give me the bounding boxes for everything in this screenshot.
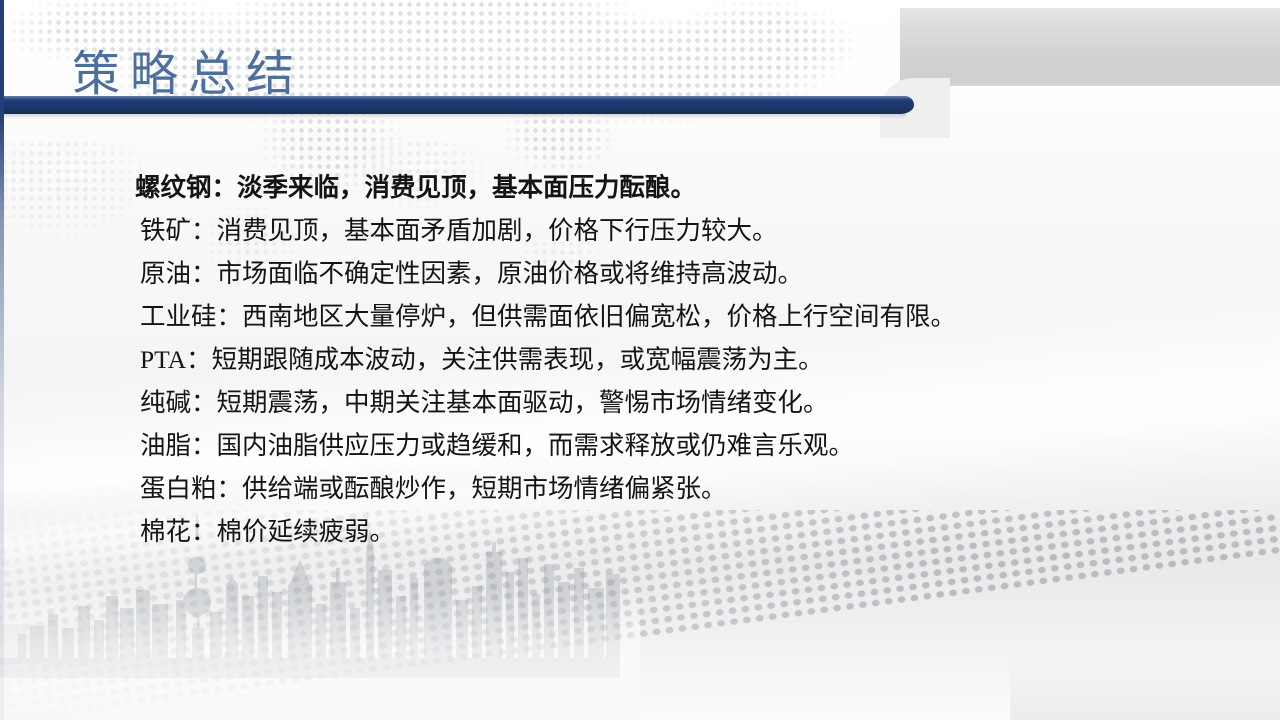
summary-line: 螺纹钢：淡季来临，消费见顶，基本面压力酝酿。 [0,166,1280,209]
left-accent-border [0,0,4,720]
title-bar-gloss [0,96,914,100]
summary-line: 棉花：棉价延续疲弱。 [0,510,1280,553]
summary-line: 纯碱：短期震荡，中期关注基本面驱动，警惕市场情绪变化。 [0,381,1280,424]
presentation-slide: 策略总结 螺纹钢：淡季来临，消费见顶，基本面压力酝酿。 铁矿：消费见顶，基本面矛… [0,0,1280,720]
summary-line: 油脂：国内油脂供应压力或趋缓和，而需求释放或仍难言乐观。 [0,424,1280,467]
summary-line: PTA：短期跟随成本波动，关注供需表现，或宽幅震荡为主。 [0,338,1280,381]
summary-line: 工业硅：西南地区大量停炉，但供需面依旧偏宽松，价格上行空间有限。 [0,295,1280,338]
summary-line: 蛋白粕：供给端或酝酿炒作，短期市场情绪偏紧张。 [0,467,1280,510]
body-text-block: 螺纹钢：淡季来临，消费见顶，基本面压力酝酿。 铁矿：消费见顶，基本面矛盾加剧，价… [0,166,1280,553]
summary-line: 原油：市场面临不确定性因素，原油价格或将维持高波动。 [0,252,1280,295]
blue-title-bar [0,96,914,114]
summary-line: 铁矿：消费见顶，基本面矛盾加剧，价格下行压力较大。 [0,209,1280,252]
page-title: 策略总结 [72,34,304,104]
title-bar-shadow [0,114,906,119]
